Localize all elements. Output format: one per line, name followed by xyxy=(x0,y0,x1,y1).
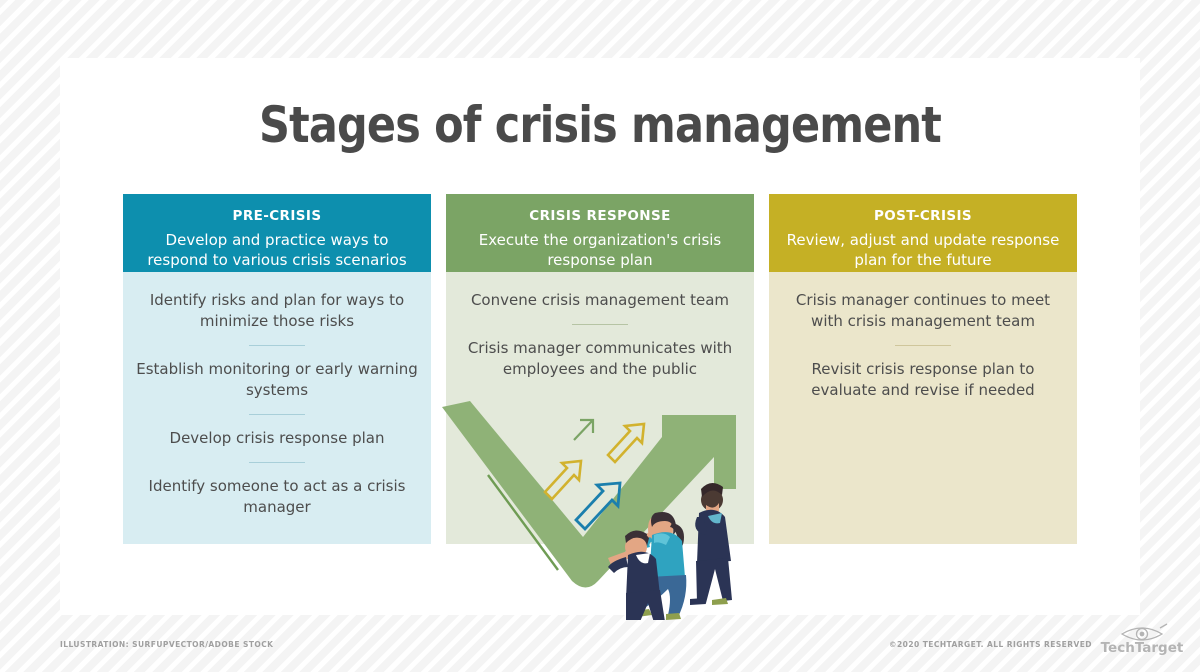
techtarget-logo: TechTarget xyxy=(1098,622,1186,658)
list-item: Crisis manager communicates with employe… xyxy=(458,338,742,380)
item-divider xyxy=(895,345,951,346)
list-item: Identify risks and plan for ways to mini… xyxy=(135,290,419,332)
list-item: Crisis manager continues to meet with cr… xyxy=(781,290,1065,332)
column-subtitle: Execute the organization's crisis respon… xyxy=(460,230,740,270)
column-header-post-crisis: POST-CRISIS Review, adjust and update re… xyxy=(769,194,1077,272)
column-subtitle: Review, adjust and update response plan … xyxy=(783,230,1063,270)
stage-column-pre-crisis: PRE-CRISIS Develop and practice ways to … xyxy=(123,194,431,544)
item-divider xyxy=(249,462,305,463)
content-card: Stages of crisis management PRE-CRISIS D… xyxy=(60,58,1140,615)
item-divider xyxy=(249,345,305,346)
infographic-canvas: Stages of crisis management PRE-CRISIS D… xyxy=(0,0,1200,672)
column-body-post-crisis: Crisis manager continues to meet with cr… xyxy=(769,272,1077,544)
list-item: Develop crisis response plan xyxy=(135,428,419,449)
eye-pupil-icon xyxy=(1140,632,1145,637)
copyright-notice: ©2020 TECHTARGET. ALL RIGHTS RESERVED xyxy=(889,640,1092,649)
techtarget-wordmark: TechTarget xyxy=(1101,640,1184,656)
column-kicker: PRE-CRISIS xyxy=(137,208,417,224)
stage-column-crisis-response: CRISIS RESPONSE Execute the organization… xyxy=(446,194,754,544)
illustration-credit: ILLUSTRATION: SURFUPVECTOR/ADOBE STOCK xyxy=(60,640,273,649)
eye-icon xyxy=(1122,624,1167,640)
stage-columns: PRE-CRISIS Develop and practice ways to … xyxy=(123,194,1077,544)
list-item: Establish monitoring or early warning sy… xyxy=(135,359,419,401)
page-title: Stages of crisis management xyxy=(136,96,1065,154)
column-header-crisis-response: CRISIS RESPONSE Execute the organization… xyxy=(446,194,754,272)
column-subtitle: Develop and practice ways to respond to … xyxy=(137,230,417,270)
column-body-crisis-response: Convene crisis management team Crisis ma… xyxy=(446,272,754,544)
item-divider xyxy=(249,414,305,415)
list-item: Convene crisis management team xyxy=(458,290,742,311)
column-header-pre-crisis: PRE-CRISIS Develop and practice ways to … xyxy=(123,194,431,272)
stage-column-post-crisis: POST-CRISIS Review, adjust and update re… xyxy=(769,194,1077,544)
item-divider xyxy=(572,324,628,325)
column-body-pre-crisis: Identify risks and plan for ways to mini… xyxy=(123,272,431,544)
list-item: Identify someone to act as a crisis mana… xyxy=(135,476,419,518)
column-kicker: POST-CRISIS xyxy=(783,208,1063,224)
list-item: Revisit crisis response plan to evaluate… xyxy=(781,359,1065,401)
column-kicker: CRISIS RESPONSE xyxy=(460,208,740,224)
